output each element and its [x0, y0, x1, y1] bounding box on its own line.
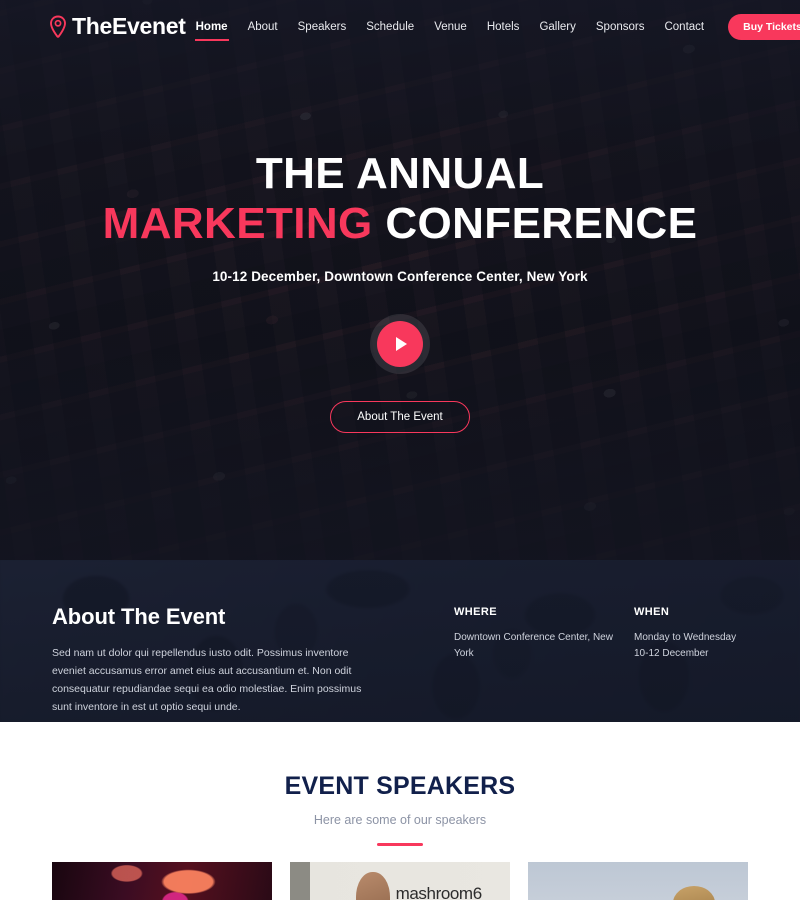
nav-item-sponsors[interactable]: Sponsors: [586, 17, 655, 37]
hero-subtitle: 10-12 December, Downtown Conference Cent…: [212, 269, 587, 284]
buy-tickets-button[interactable]: Buy Tickets: [728, 14, 800, 40]
speaker-card-3[interactable]: [528, 862, 748, 900]
about-section: About The Event Sed nam ut dolor qui rep…: [0, 560, 800, 722]
hero-content: THE ANNUAL MARKETING CONFERENCE 10-12 De…: [0, 0, 800, 560]
nav-item-home[interactable]: Home: [186, 17, 238, 37]
about-when-column: WHEN Monday to Wednesday 10-12 December: [634, 604, 800, 722]
when-title: WHEN: [634, 606, 800, 618]
video-play-button[interactable]: [370, 314, 430, 374]
speaker-card-2[interactable]: mashroom6: [290, 862, 510, 900]
about-paragraph: Sed nam ut dolor qui repellendus iusto o…: [52, 644, 364, 716]
nav-item-speakers[interactable]: Speakers: [288, 17, 357, 37]
speaker-card-2-caption: mashroom6: [396, 884, 482, 900]
speakers-heading: EVENT SPEAKERS: [0, 772, 800, 801]
about-where-column: WHERE Downtown Conference Center, New Yo…: [454, 604, 632, 722]
hero-title-rest: CONFERENCE: [385, 199, 697, 248]
about-content: About The Event Sed nam ut dolor qui rep…: [0, 560, 800, 722]
when-body-line2: 10-12 December: [634, 648, 708, 659]
section-divider: [377, 843, 423, 846]
logo-text: TheEvenet: [72, 15, 186, 38]
speakers-subheading: Here are some of our speakers: [0, 813, 800, 827]
about-the-event-button[interactable]: About The Event: [330, 401, 469, 433]
nav-item-contact[interactable]: Contact: [654, 17, 714, 37]
nav-item-gallery[interactable]: Gallery: [529, 17, 585, 37]
speaker-cards-row: mashroom6: [52, 862, 748, 900]
when-body: Monday to Wednesday 10-12 December: [634, 630, 800, 662]
play-button-inner[interactable]: [377, 321, 423, 367]
location-pin-icon: [48, 15, 68, 39]
hero-title: THE ANNUAL MARKETING CONFERENCE: [103, 149, 698, 248]
hero-title-accent: MARKETING: [103, 199, 373, 248]
nav-item-venue[interactable]: Venue: [424, 17, 477, 37]
hero-title-line1: THE ANNUAL: [256, 149, 544, 198]
about-text-column: About The Event Sed nam ut dolor qui rep…: [52, 604, 364, 722]
where-body: Downtown Conference Center, New York: [454, 630, 632, 662]
when-body-line1: Monday to Wednesday: [634, 632, 736, 643]
nav-links: Home About Speakers Schedule Venue Hotel…: [186, 14, 800, 40]
play-icon: [396, 337, 407, 351]
speaker-card-1[interactable]: [52, 862, 272, 900]
top-navigation-bar: TheEvenet Home About Speakers Schedule V…: [0, 0, 800, 53]
nav-item-hotels[interactable]: Hotels: [477, 17, 530, 37]
nav-item-schedule[interactable]: Schedule: [356, 17, 424, 37]
about-heading: About The Event: [52, 604, 364, 630]
logo[interactable]: TheEvenet: [48, 15, 186, 39]
nav-item-about[interactable]: About: [238, 17, 288, 37]
page-root: TheEvenet Home About Speakers Schedule V…: [0, 0, 800, 900]
hero-section: TheEvenet Home About Speakers Schedule V…: [0, 0, 800, 560]
where-title: WHERE: [454, 606, 632, 618]
